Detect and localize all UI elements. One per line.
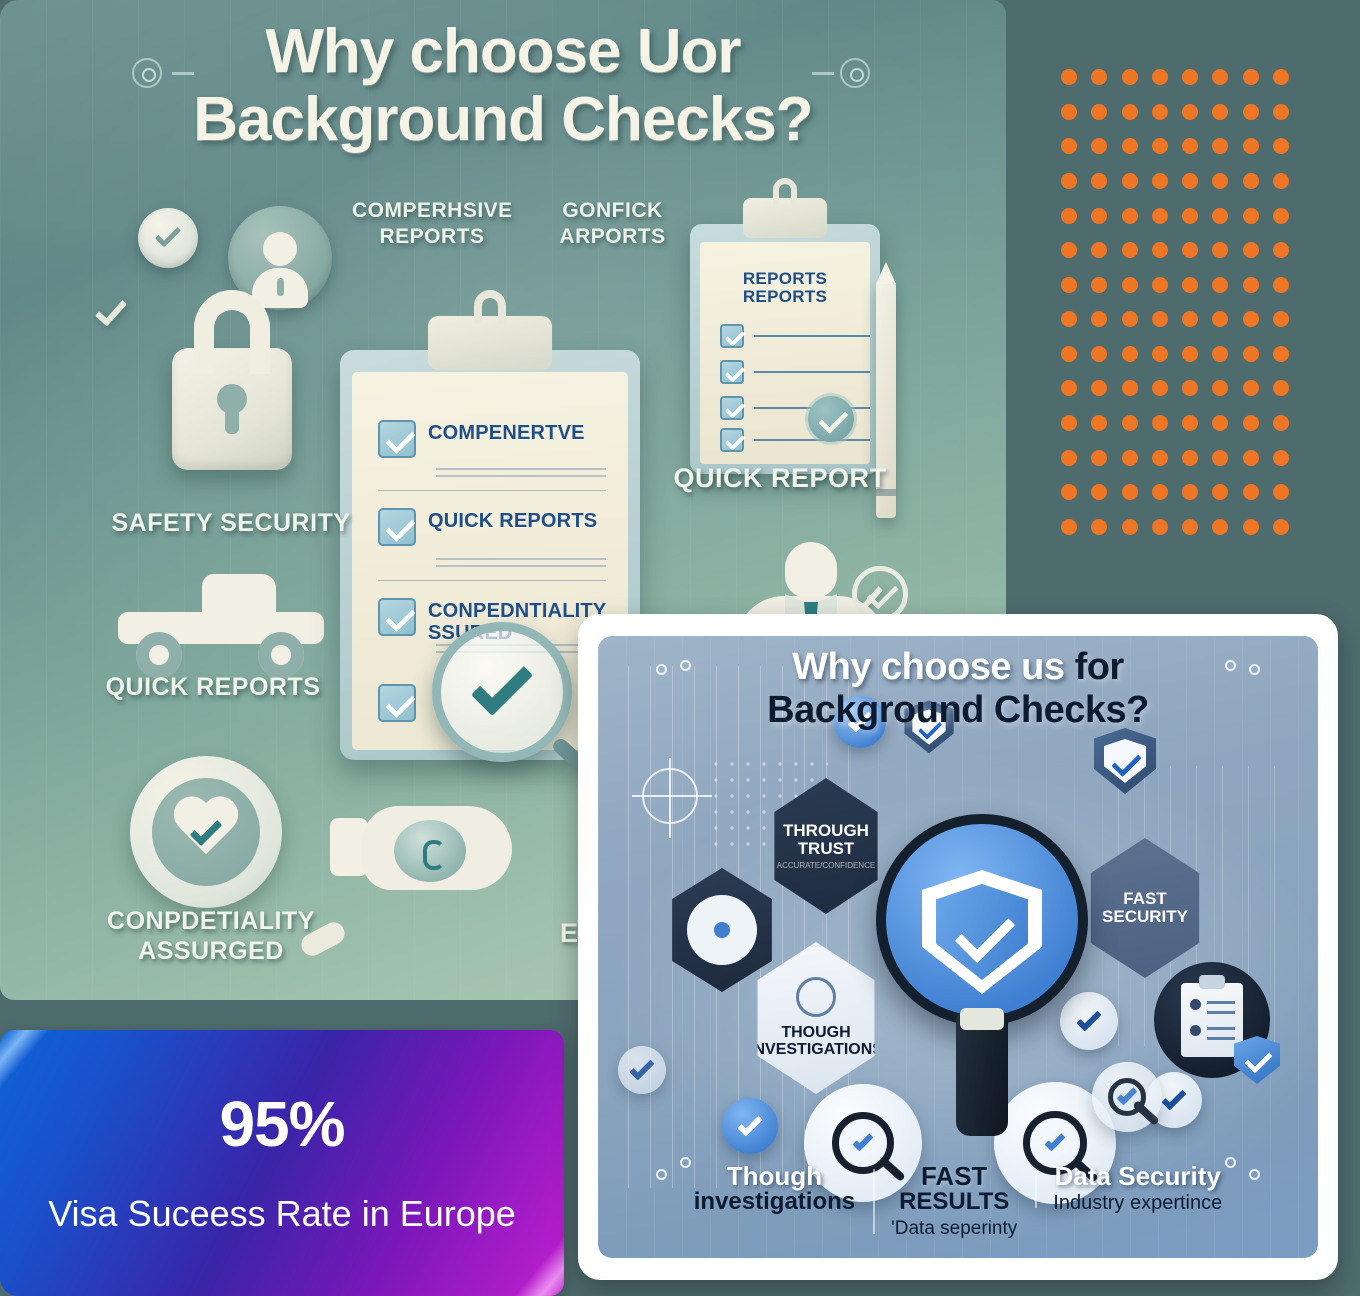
blue-poster-title: Why choose us for Background Checks? (598, 646, 1318, 731)
blue-title-dark: for (1075, 646, 1124, 688)
hex-subtext: ACCURATE/CONFIDENCE (777, 862, 876, 870)
clipboard-clip-icon (428, 316, 552, 370)
hex-line-2: SECURITY (1102, 908, 1188, 926)
text-lines-placeholder (436, 558, 606, 572)
stat-card: 95% Visa Suceess Rate in Europe (0, 1030, 564, 1296)
footer-subtitle: investigations (694, 1190, 855, 1215)
label-safety-security: SAFETY SECURITY (86, 508, 376, 538)
blue-card-container: Why choose us for Background Checks? THR… (578, 614, 1338, 1280)
footer-subtitle: 'Data seperinty (891, 1218, 1017, 1240)
magnifier-shield-icon (876, 814, 1088, 1026)
stat-label: Visa Suceess Rate in Europe (48, 1194, 516, 1234)
check-badge-icon (138, 208, 198, 268)
footer-title: Though (694, 1163, 855, 1190)
checkbox-icon (378, 598, 416, 636)
footer-title: FAST (891, 1163, 1017, 1190)
subhead-line-2: REPORTS (379, 225, 484, 248)
hex-line-1: FAST (1123, 890, 1166, 908)
label-quick-reports: QUICK REPORTS (68, 672, 358, 702)
subhead-line-2: ARPORTS (559, 225, 665, 248)
subhead-line-1: GONFICK (562, 199, 662, 222)
title-line-1: REPORTS (743, 269, 827, 288)
target-gear-icon (796, 977, 836, 1017)
teal-poster-title: Why choose Uor Background Checks? (0, 18, 1006, 154)
label-quick-report: QUICK REPORT (650, 462, 910, 494)
footer-column-data-security: Data Security Industry expertince (1035, 1163, 1240, 1214)
hex-line-2: TRUST (798, 840, 855, 858)
magnifier-icon (1092, 1062, 1162, 1132)
check-badge-icon (722, 1098, 778, 1154)
hex-line-2: INVESTIGATIONS (749, 1042, 883, 1059)
magnifier-icon (432, 622, 572, 762)
checkbox-icon (720, 396, 744, 420)
checklist-row: COMPENERTVE (378, 420, 608, 458)
teal-subhead-confidential: GONFICK ARPORTS (530, 198, 695, 251)
footer-title: Data Security (1053, 1163, 1222, 1190)
clipboard-line-item (720, 324, 870, 350)
right-clipboard-title: REPORTS REPORTS (700, 270, 870, 306)
subhead-line-1: COMPERHSIVE (352, 199, 513, 222)
teal-subhead-comprehensive: COMPERHSIVE REPORTS (352, 198, 512, 251)
divider (378, 580, 606, 581)
blue-title-white: Why choose us (792, 646, 1074, 688)
checklist-label: COMPENERTVE (428, 420, 585, 444)
check-badge-icon (1060, 992, 1118, 1050)
hand-holding-orb-icon (330, 800, 530, 900)
checklist-row: QUICK REPORTS (378, 508, 608, 546)
clipboard-paper: REPORTS REPORTS (700, 242, 870, 464)
footer-column-fast-results: FAST RESULTS 'Data seperinty (873, 1163, 1035, 1240)
divider (378, 490, 606, 491)
label-confidentiality-assured: CONPDETIALITY ASSURGED (66, 906, 356, 966)
checkbox-icon (378, 508, 416, 546)
clipboard-clip-icon (743, 198, 827, 238)
teal-title-line-1: Why choose Uor (265, 17, 740, 86)
blue-title-line-2: Background Checks? (767, 689, 1149, 731)
blue-poster-image: Why choose us for Background Checks? THR… (598, 636, 1318, 1258)
truck-icon (110, 570, 330, 670)
title-line-2: REPORTS (743, 287, 827, 306)
orange-dot-grid (1054, 60, 1296, 544)
blue-poster-footer: Though investigations FAST RESULTS 'Data… (598, 1163, 1318, 1240)
page-canvas: Why choose Uor Background Checks? COMPER… (0, 0, 1360, 1296)
checkbox-icon (720, 428, 744, 452)
footer-column-investigations: Though investigations (676, 1163, 873, 1215)
clipboard-right: REPORTS REPORTS (690, 224, 880, 474)
checkmark-icon (95, 293, 127, 326)
hex-line-1: THROUGH (783, 822, 869, 840)
check-badge-icon (618, 1046, 666, 1094)
document-shield-icon (1154, 962, 1270, 1078)
heart-check-icon (130, 756, 282, 908)
verified-seal-icon (808, 396, 854, 442)
text-lines-placeholder (436, 468, 606, 482)
footer-subtitle: Industry expertince (1053, 1192, 1222, 1214)
checkbox-icon (378, 684, 416, 722)
label-edge-letter: E (560, 918, 578, 949)
hex-line-1: THOUGH (781, 1025, 850, 1042)
checklist-label: QUICK REPORTS (428, 508, 597, 532)
crosshair-icon (642, 768, 698, 824)
checkbox-icon (720, 360, 744, 384)
clipboard-line-item (720, 360, 870, 386)
checkbox-icon (378, 420, 416, 458)
footer-title-2: RESULTS (891, 1190, 1017, 1215)
padlock-icon (172, 348, 292, 470)
checkbox-icon (720, 324, 744, 348)
stat-value: 95% (219, 1092, 344, 1156)
teal-title-line-2: Background Checks? (0, 86, 1006, 154)
